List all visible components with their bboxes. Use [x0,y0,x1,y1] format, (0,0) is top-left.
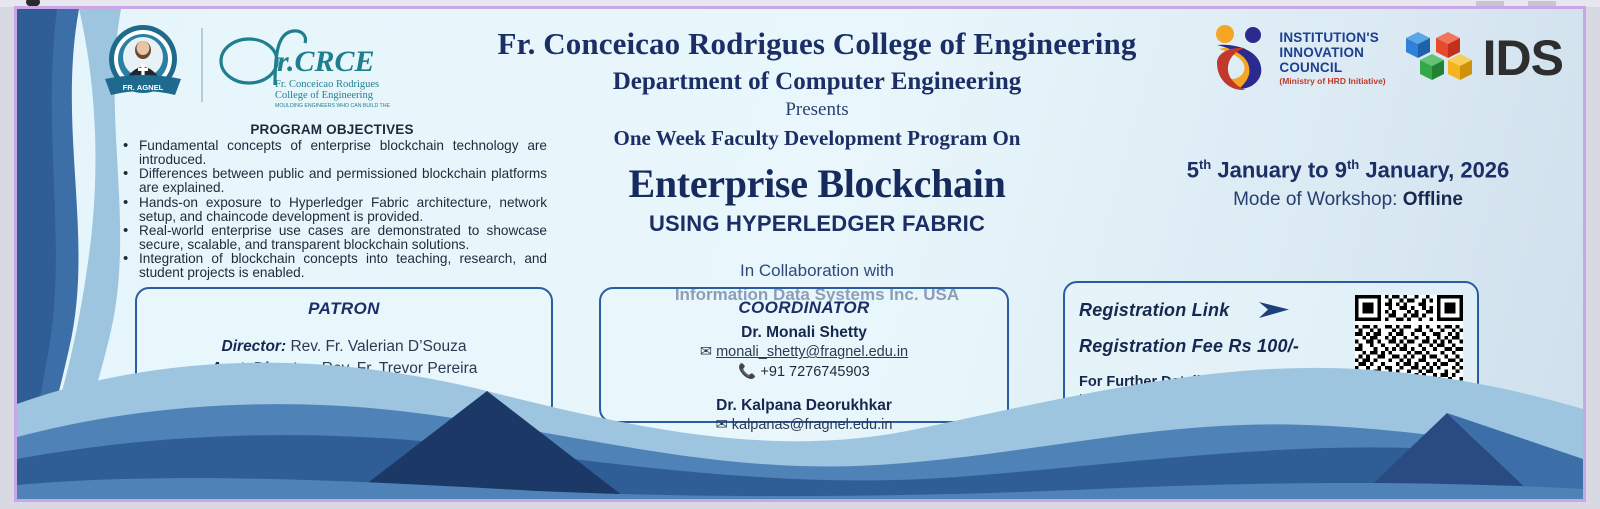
ids-cubes-icon [1402,26,1474,90]
institute-logo-group: FR. AGNEL r.CRCE Fr. Conceicao Rodrigues… [95,17,391,113]
coordinator-secondary-name: Dr. Kalpana Deorukhkar [609,396,999,416]
objectives-list: Fundamental concepts of enterprise block… [117,139,547,280]
patron-title: PATRON [145,299,543,319]
poster-frame: FR. AGNEL r.CRCE Fr. Conceicao Rodrigues… [14,6,1586,502]
department-name: Department of Computer Engineering [447,68,1187,96]
patron-name: Dr. Sujata Deshmukh [378,405,524,422]
website-url[interactable]: http://www.frcrce.ac.in [1079,392,1301,411]
logo-tagline-2: College of Engineering [275,90,374,101]
date-ordinal-2: th [1347,157,1359,172]
coordinator-title: COORDINATOR [609,298,999,318]
patron-role: Principal: [245,383,320,400]
program-objectives-block: PROGRAM OBJECTIVES Fundamental concepts … [117,122,547,280]
list-item: Principal: Dr. Sapna Prabhu [145,381,543,403]
program-line: One Week Faculty Development Program On [447,126,1187,151]
further-details-visit: Visit [1213,374,1240,390]
logo-tagline-1: Fr. Conceicao Rodrigues [275,79,379,90]
patron-name: Rev. Fr. Valerian D’Souza [290,338,466,355]
list-item: Director: Rev. Fr. Valerian D’Souza [145,336,543,358]
registration-text-block: Registration Link Registration Fee Rs 10… [1079,295,1301,411]
coordinator-box: COORDINATOR Dr. Monali Shetty ✉ monali_s… [599,287,1009,423]
coordinator-primary-phone: +91 7276745903 [760,364,869,380]
patron-role: Director: [222,338,291,355]
svg-text:r.CRCE: r.CRCE [277,45,375,78]
registration-link-label: Registration Link [1079,300,1229,321]
further-details-block: For Further Details Visit http://www.frc… [1079,373,1301,411]
arrow-right-icon [1259,299,1301,321]
iic-line-1: INSTITUTION'S [1279,30,1385,45]
registration-qr-code[interactable] [1355,295,1463,403]
objectives-title: PROGRAM OBJECTIVES [117,122,547,137]
iic-line-3: COUNCIL [1279,60,1385,75]
workshop-mode-value: Offline [1403,189,1463,210]
coordinator-primary-phone-row: 📞 +91 7276745903 [609,362,999,383]
list-item: HOD Computer Engineering: Dr. Sujata Des… [145,403,543,425]
ids-wordmark: IDS [1483,29,1563,87]
list-item: Fundamental concepts of enterprise block… [117,139,547,167]
program-title: Enterprise Blockchain [447,160,1187,207]
partner-logo-group: INSTITUTION'S INNOVATION COUNCIL (Minist… [1211,23,1563,93]
workshop-mode-label: Mode of Workshop: [1233,189,1403,210]
institute-crest-icon: FR. AGNEL [95,17,191,113]
list-item: Asst. Director: Rev. Fr. Trevor Pereira [145,358,543,380]
presents-label: Presents [447,99,1187,121]
ids-logo: IDS [1402,26,1563,90]
coordinator-secondary-email-row: ✉ kalpanas@fragnel.edu.in [609,416,999,435]
frcrce-logo-icon: r.CRCE Fr. Conceicao Rodrigues College o… [213,19,391,111]
phone-icon: 📞 [738,364,756,380]
patron-role: Asst. Director: [211,360,322,377]
envelope-icon: ✉ [700,344,712,360]
further-details-line: For Further Details Visit [1079,373,1301,392]
date-ordinal-1: th [1199,157,1211,172]
registration-box: Registration Link Registration Fee Rs 10… [1063,281,1479,423]
list-item: Differences between public and permissio… [117,167,547,195]
workshop-mode: Mode of Workshop: Offline [1148,189,1548,211]
coordinator-contacts: Dr. Monali Shetty ✉ monali_shetty@fragne… [609,323,999,435]
poster: FR. AGNEL r.CRCE Fr. Conceicao Rodrigues… [17,9,1583,499]
logo-divider [201,28,203,102]
patron-name: Rev. Fr. Trevor Pereira [322,360,478,377]
coordinator-secondary-email: kalpanas@fragnel.edu.in [732,417,893,433]
patron-box: PATRON Director: Rev. Fr. Valerian D’Sou… [135,287,553,419]
patron-name: Dr. Sapna Prabhu [320,383,443,400]
coordinator-primary-email[interactable]: monali_shetty@fragnel.edu.in [716,344,908,360]
further-details-label: For Further Details [1079,374,1213,390]
coordinator-primary-name: Dr. Monali Shetty [609,323,999,343]
program-dates: 5th January to 9th January, 2026 [1148,157,1548,183]
registration-fee: Registration Fee Rs 100/- [1079,336,1301,357]
iic-text-block: INSTITUTION'S INNOVATION COUNCIL (Minist… [1279,30,1385,87]
patron-role: HOD Computer Engineering: [163,405,378,422]
logo-tagline-3: MOULDING ENGINEERS WHO CAN BUILD THE NAT… [275,103,391,109]
patron-list: Director: Rev. Fr. Valerian D’Souza Asst… [145,336,543,426]
college-name: Fr. Conceicao Rodrigues College of Engin… [447,27,1187,61]
list-item: Hands-on exposure to Hyperledger Fabric … [117,196,547,224]
list-item: Real-world enterprise use cases are demo… [117,224,547,252]
collaboration-label: In Collaboration with [447,261,1187,281]
registration-link-row[interactable]: Registration Link [1079,299,1301,321]
envelope-icon: ✉ [716,417,728,433]
coordinator-primary-email-row: ✉ monali_shetty@fragnel.edu.in [609,343,999,362]
registration-layout: Registration Link Registration Fee Rs 10… [1079,295,1463,409]
schedule-block: 5th January to 9th January, 2026 Mode of… [1148,157,1548,211]
iic-logo: INSTITUTION'S INNOVATION COUNCIL (Minist… [1211,23,1385,93]
iic-emblem-icon [1211,23,1271,93]
svg-text:FR. AGNEL: FR. AGNEL [123,83,164,92]
iic-line-2: INNOVATION [1279,45,1385,60]
center-heading-block: Fr. Conceicao Rodrigues College of Engin… [447,27,1187,305]
iic-ministry-note: (Ministry of HRD Initiative) [1279,77,1385,87]
list-item: Integration of blockchain concepts into … [117,252,547,280]
poster-header: FR. AGNEL r.CRCE Fr. Conceicao Rodrigues… [17,9,1583,127]
spacer [609,383,999,396]
program-subtitle: USING HYPERLEDGER FABRIC [447,211,1187,237]
